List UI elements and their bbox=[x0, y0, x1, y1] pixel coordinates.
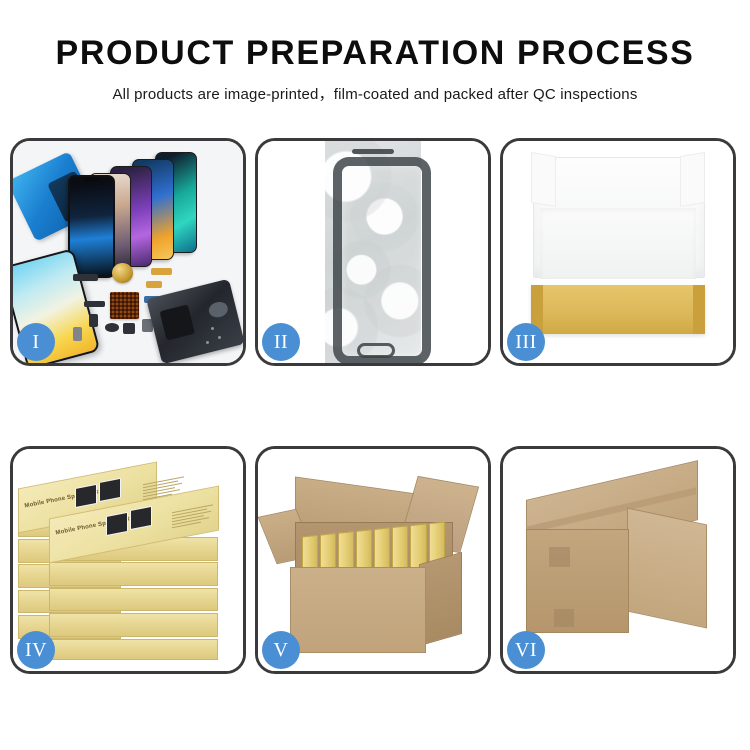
phone-screen-fan bbox=[77, 152, 238, 267]
home-button-icon bbox=[357, 343, 396, 358]
step-badge-6: VI bbox=[507, 631, 545, 669]
process-step-grid: I II bbox=[10, 138, 740, 674]
box-edge bbox=[49, 588, 219, 611]
component-icon bbox=[84, 301, 105, 308]
tape-patch-icon bbox=[554, 609, 575, 627]
page-subtitle: All products are image-printed，film-coat… bbox=[0, 83, 750, 104]
carton-side-face bbox=[627, 507, 707, 628]
box-edge bbox=[49, 639, 219, 661]
process-step-4: Mobile Phone Spare Parts Mobile Phone Sp… bbox=[10, 446, 246, 674]
earpiece-slot-icon bbox=[352, 149, 395, 154]
component-icon bbox=[123, 323, 135, 334]
tray-edge-icon bbox=[693, 285, 705, 334]
step-badge-2: II bbox=[262, 323, 300, 361]
page-title: PRODUCT PREPARATION PROCESS bbox=[0, 36, 750, 70]
foam-insert-icon bbox=[540, 208, 696, 279]
component-icon bbox=[105, 323, 119, 332]
carton-front-panel bbox=[290, 567, 425, 653]
box-stack: Mobile Phone Spare Parts Mobile Phone Sp… bbox=[18, 467, 239, 662]
carton-front-face bbox=[526, 529, 629, 633]
process-step-6: VI bbox=[500, 446, 736, 674]
component-icon bbox=[89, 314, 98, 327]
screw-icon bbox=[206, 341, 209, 344]
step-badge-1: I bbox=[17, 323, 55, 361]
box-edge bbox=[49, 562, 219, 585]
bubble-wrap-texture bbox=[325, 141, 422, 363]
flex-cable-icon bbox=[146, 281, 162, 288]
box-edge bbox=[49, 613, 219, 636]
phone-screen-outline-icon bbox=[333, 157, 430, 363]
notch-icon bbox=[83, 177, 100, 182]
process-step-3: III bbox=[500, 138, 736, 366]
flex-cable-icon bbox=[151, 268, 172, 276]
component-icon bbox=[73, 327, 82, 340]
speaker-coil-icon bbox=[112, 263, 133, 283]
kraft-tray-icon bbox=[531, 285, 706, 334]
box-flap-icon bbox=[531, 152, 556, 207]
step-badge-3: III bbox=[507, 323, 545, 361]
box-flap-icon bbox=[680, 152, 705, 207]
process-step-2: II bbox=[255, 138, 491, 366]
component-icon bbox=[73, 274, 98, 281]
tape-patch-icon bbox=[549, 547, 570, 567]
step-badge-4: IV bbox=[17, 631, 55, 669]
box-phone-graphic bbox=[130, 506, 152, 530]
logic-board-icon bbox=[147, 278, 243, 363]
camera-module-icon bbox=[110, 292, 140, 319]
header: PRODUCT PREPARATION PROCESS All products… bbox=[0, 0, 750, 104]
process-step-5: V bbox=[255, 446, 491, 674]
process-step-1: I bbox=[10, 138, 246, 366]
step-badge-5: V bbox=[262, 631, 300, 669]
box-phone-graphic bbox=[106, 512, 128, 536]
product-preparation-infographic: PRODUCT PREPARATION PROCESS All products… bbox=[0, 0, 750, 750]
